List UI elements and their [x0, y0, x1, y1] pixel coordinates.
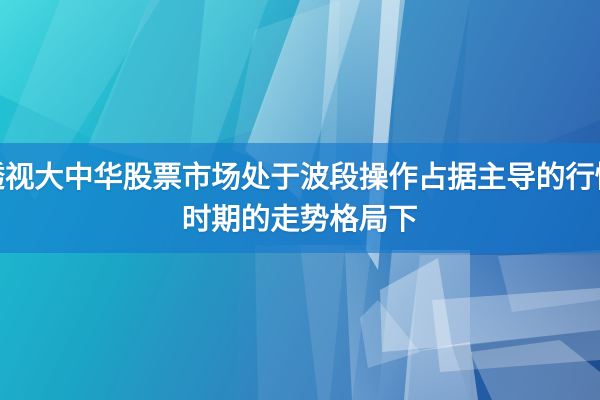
facet-top-center-a — [190, 0, 300, 150]
facet-bottomright-f — [470, 340, 600, 400]
facet-bottomright-shadow — [452, 330, 600, 400]
title-band: 透视大中华股票市场处于波段操作占据主导的行情 时期的走势格局下 — [0, 143, 600, 253]
facet-bottomright-c — [432, 288, 600, 372]
facet-bottomright-e — [360, 300, 420, 368]
facet-topleft-a — [0, 0, 150, 140]
title-line-2: 时期的走势格局下 — [182, 199, 418, 239]
facet-bottomright-g — [404, 342, 478, 400]
facet-bottomleft-flat — [0, 250, 240, 400]
title-line-1: 透视大中华股票市场处于波段操作占据主导的行情 — [0, 157, 600, 197]
facet-lower-center-c — [345, 250, 420, 400]
facet-bottomright-b — [408, 255, 600, 352]
facet-lower-center-a — [255, 245, 345, 400]
banner-card: 透视大中华股票市场处于波段操作占据主导的行情 时期的走势格局下 — [0, 0, 600, 400]
facet-lower-center-b — [300, 245, 372, 400]
facet-bottomright-d — [380, 258, 452, 352]
facet-bottomright-h — [498, 250, 600, 312]
facet-bottomright-a — [378, 250, 470, 400]
